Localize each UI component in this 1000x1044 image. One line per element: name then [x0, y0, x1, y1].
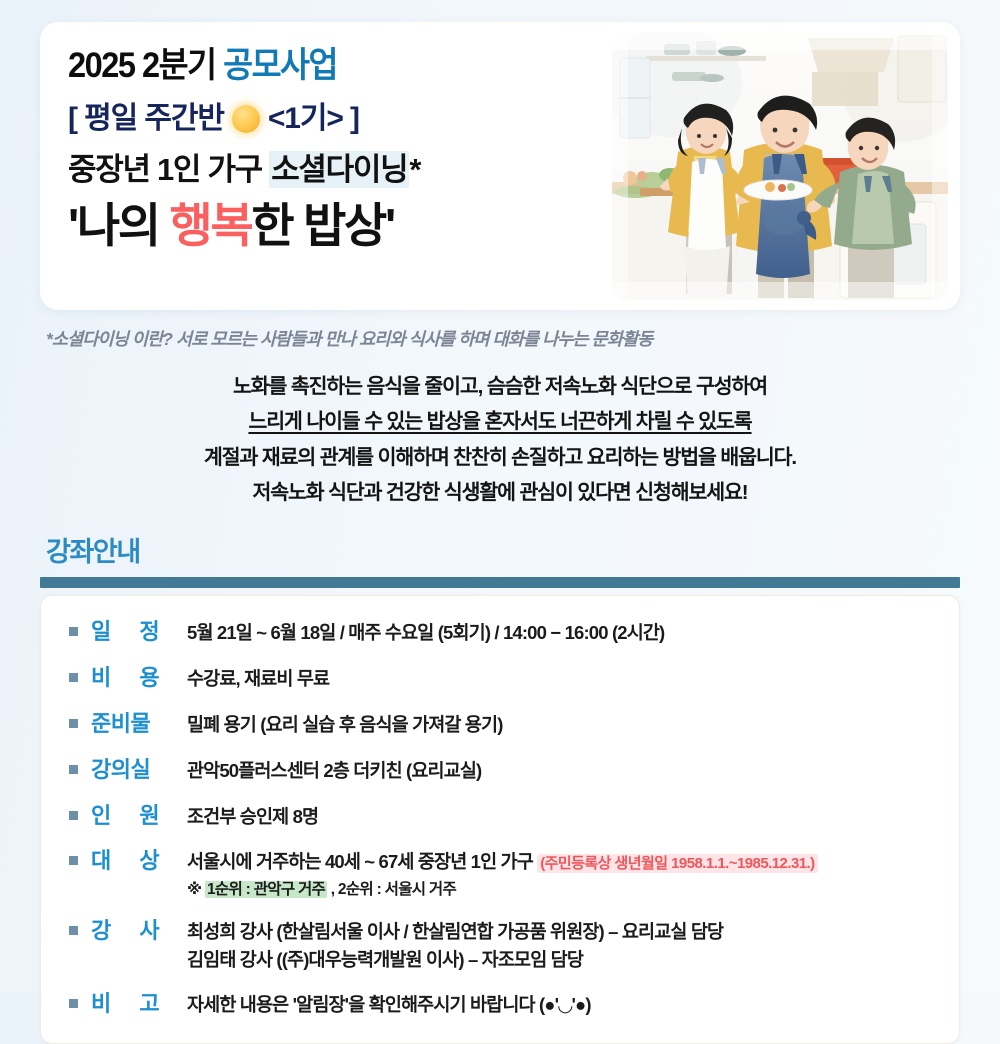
row-label: 비 용 — [91, 662, 187, 694]
description-line-1: 노화를 촉진하는 음식을 줄이고, 슴슴한 저속노화 식단으로 구성하여 — [40, 369, 960, 404]
section-divider-bar — [40, 577, 960, 588]
hero-program-name: '나의 행복한 밥상' — [68, 198, 612, 254]
bullet-icon — [69, 673, 78, 682]
priority-first-highlight: 1순위 : 관악구 거주 — [205, 881, 327, 898]
poster-page: 2025 2분기 공모사업 [ 평일 주간반 <1기> ] 중장년 1인 가구 … — [0, 0, 1000, 992]
social-dining-footnote: *소셜다이닝 이란? 서로 모르는 사람들과 만나 요리와 식사를 하며 대화를… — [40, 326, 960, 351]
hero-name-pre: '나의 — [68, 199, 170, 252]
course-info-table: 일 정 5월 21일 ~ 6월 18일 / 매주 수요일 (5회기) / 14:… — [40, 595, 960, 1044]
row-value: 최성희 강사 (한살림서울 이사 / 한살림연합 가공품 위원장) – 요리교실… — [187, 915, 959, 974]
priority-second: , 2순위 : 서울시 거주 — [327, 881, 456, 898]
row-value: 자세한 내용은 '알림장'을 확인해주시기 바랍니다 (●'◡'●) — [187, 988, 959, 1019]
row-label: 강 사 — [91, 915, 187, 947]
row-label: 대 상 — [91, 845, 187, 877]
hero-subtitle-close: <1기> ] — [268, 101, 359, 137]
bullet-icon — [69, 719, 78, 728]
row-value: 조건부 승인제 8명 — [187, 800, 959, 831]
row-value: 수강료, 재료비 무료 — [187, 662, 959, 693]
table-row: 인 원 조건부 승인제 8명 — [41, 793, 959, 839]
hero-subtitle-target: 중장년 1인 가구 소셜다이닝* — [68, 151, 612, 188]
table-row: 일 정 5월 21일 ~ 6월 18일 / 매주 수요일 (5회기) / 14:… — [41, 609, 959, 655]
hero-title-accent: 공모사업 — [223, 46, 337, 85]
instructor-2: 김임태 강사 ((주)대우능력개발원 이사) – 자조모임 담당 — [187, 946, 959, 974]
row-value: 서울시에 거주하는 40세 ~ 67세 중장년 1인 가구 (주민등록상 생년월… — [187, 845, 959, 901]
description-line-2: 느리게 나이들 수 있는 밥상을 혼자서도 너끈하게 차릴 수 있도록 — [40, 404, 960, 439]
bullet-icon — [69, 999, 78, 1008]
priority-prefix: ※ — [187, 881, 205, 898]
table-row-target: 대 상 서울시에 거주하는 40세 ~ 67세 중장년 1인 가구 (주민등록상… — [41, 838, 959, 908]
bullet-icon — [69, 856, 78, 865]
description-line-3: 계절과 재료의 관계를 이해하며 찬찬히 손질하고 요리하는 방법을 배웁니다. — [40, 440, 960, 475]
bullet-icon — [69, 765, 78, 774]
row-label: 인 원 — [91, 800, 187, 832]
hero-title-program: 2025 2분기 공모사업 — [68, 46, 574, 86]
row-value: 5월 21일 ~ 6월 18일 / 매주 수요일 (5회기) / 14:00 −… — [187, 616, 959, 647]
hero-subtitle-class: [ 평일 주간반 <1기> ] — [68, 101, 612, 137]
row-label: 비 고 — [91, 988, 187, 1020]
hero-social-dining-highlight: 소셜다이닝 — [269, 151, 409, 188]
target-main-text: 서울시에 거주하는 40세 ~ 67세 중장년 1인 가구 — [187, 851, 537, 872]
table-row-instructors: 강 사 최성희 강사 (한살림서울 이사 / 한살림연합 가공품 위원장) – … — [41, 908, 959, 981]
description-line-4: 저속노화 식단과 건강한 식생활에 관심이 있다면 신청해보세요! — [40, 475, 960, 510]
priority-note: ※ 1순위 : 관악구 거주 , 2순위 : 서울시 거주 — [187, 878, 959, 902]
hero-text-block: 2025 2분기 공모사업 [ 평일 주간반 <1기> ] 중장년 1인 가구 … — [40, 22, 612, 310]
cooking-illustration — [612, 32, 948, 300]
hero-title-year: 2025 2분기 — [68, 46, 223, 85]
bullet-icon — [69, 627, 78, 636]
hero-target-text: 중장년 1인 가구 — [68, 152, 269, 187]
birthdate-note-badge: (주민등록상 생년월일 1958.1.1.~1985.12.31.) — [537, 854, 817, 873]
hero-name-post: 한 밥상' — [251, 199, 393, 252]
table-row: 강의실 관악50플러스센터 2층 더키친 (요리교실) — [41, 747, 959, 793]
row-label: 강의실 — [91, 754, 187, 786]
bullet-icon — [69, 811, 78, 820]
table-row: 비 고 자세한 내용은 '알림장'을 확인해주시기 바랍니다 (●'◡'●) — [41, 981, 959, 1027]
sun-icon — [232, 105, 260, 133]
row-label: 준비물 — [91, 708, 187, 740]
row-label: 일 정 — [91, 616, 187, 648]
hero-card: 2025 2분기 공모사업 [ 평일 주간반 <1기> ] 중장년 1인 가구 … — [40, 22, 960, 310]
table-row: 비 용 수강료, 재료비 무료 — [41, 655, 959, 701]
table-row: 준비물 밀폐 용기 (요리 실습 후 음식을 가져갈 용기) — [41, 701, 959, 747]
row-value: 밀폐 용기 (요리 실습 후 음식을 가져갈 용기) — [187, 708, 959, 739]
section-title-course-info: 강좌안내 — [40, 530, 960, 569]
row-value: 관악50플러스센터 2층 더키친 (요리교실) — [187, 754, 959, 785]
instructor-1: 최성희 강사 (한살림서울 이사 / 한살림연합 가공품 위원장) – 요리교실… — [187, 918, 959, 946]
description-block: 노화를 촉진하는 음식을 줄이고, 슴슴한 저속노화 식단으로 구성하여 느리게… — [40, 369, 960, 510]
hero-subtitle-open: [ 평일 주간반 — [68, 101, 224, 137]
hero-name-accent: 행복 — [170, 199, 252, 252]
bullet-icon — [69, 926, 78, 935]
hero-asterisk: * — [409, 152, 420, 187]
